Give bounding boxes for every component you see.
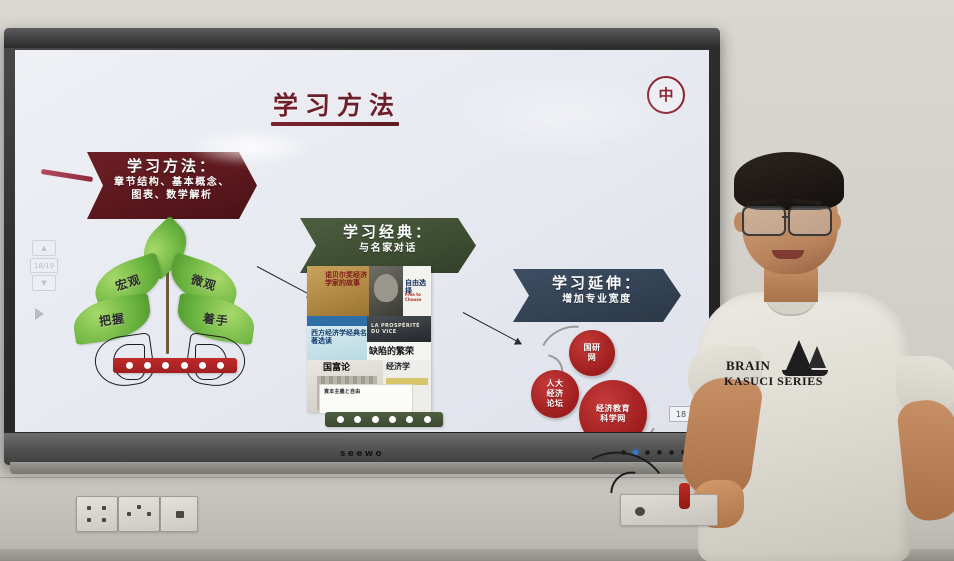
book-portrait — [369, 266, 403, 316]
presenter-mouth — [772, 250, 804, 259]
slide-prev-button[interactable]: ▲ — [32, 240, 56, 256]
dot — [144, 362, 151, 369]
screen-glare-secondary — [445, 70, 685, 160]
leaf-start-label: 着手 — [202, 309, 230, 329]
smartboard-display[interactable]: 学习方法 中 ▲ 18/19 ▼ 学习方法： 章节结构、基本概念、 图表、数学解… — [4, 28, 720, 465]
dot — [406, 416, 413, 423]
dot-bar-left — [113, 358, 237, 373]
book-nobel-title: 诺贝尔奖经济学家的故事 — [325, 272, 369, 288]
dot — [126, 362, 133, 369]
gear-renda-label: 人大经济论坛 — [544, 379, 567, 408]
leaf-macro-label: 宏观 — [113, 270, 143, 294]
dot — [199, 362, 206, 369]
glasses-lens-right — [788, 206, 832, 236]
power-switch-red[interactable] — [679, 483, 690, 509]
wall-socket-2[interactable] — [118, 496, 160, 532]
title-underline — [271, 122, 399, 126]
dot — [162, 362, 169, 369]
portrait-shape — [374, 274, 398, 302]
hw-button-3[interactable] — [645, 450, 650, 455]
chevron-tail-decoration — [41, 169, 93, 182]
block-extend-subtitle: 增加专业宽度 — [513, 293, 681, 306]
dot — [217, 362, 224, 369]
block-method-line2: 图表、数学解析 — [87, 189, 257, 202]
gear-guoyan-label: 国研网 — [581, 343, 604, 363]
device-brand-label: seewo — [340, 449, 384, 459]
leaf-grasp-label: 把握 — [98, 309, 126, 329]
block-classic[interactable]: 学习经典： 与名家对话 — [300, 218, 476, 273]
classroom-scene: 学习方法 中 ▲ 18/19 ▼ 学习方法： 章节结构、基本概念、 图表、数学解… — [0, 0, 954, 561]
book-nobel: 诺贝尔奖经济学家的故事 — [307, 266, 369, 316]
sailboat-sail-second — [808, 346, 826, 368]
gear-jingji-label: 经济教育科学网 — [593, 404, 633, 424]
slide-next-button[interactable]: ▼ — [32, 275, 56, 291]
wall-socket-1[interactable] — [76, 496, 118, 532]
presenter: BRAIN KASUCI SERIES — [690, 150, 954, 561]
glasses-lens-left — [742, 206, 786, 236]
bezel-top — [4, 28, 720, 48]
dot — [372, 416, 379, 423]
glasses-bridge — [782, 216, 790, 218]
shirt-text-line2: KASUCI SERIES — [724, 374, 823, 389]
book-west-band — [307, 316, 367, 326]
book-western-economics: 西方经济学经典名著选读 — [307, 316, 367, 360]
leaf-micro-label: 微观 — [189, 270, 219, 294]
block-classic-heading: 学习经典： — [300, 223, 476, 242]
wall-socket-3[interactable] — [160, 496, 198, 532]
presentation-slide[interactable]: 学习方法 中 ▲ 18/19 ▼ 学习方法： 章节结构、基本概念、 图表、数学解… — [15, 50, 709, 432]
logo-glyph: 中 — [658, 88, 673, 103]
slide-title: 学习方法 — [273, 86, 401, 122]
slide-counter: 18/19 — [30, 258, 58, 273]
gear-guoyan: 国研网 — [569, 330, 615, 376]
block-extend[interactable]: 学习延伸： 增加专业宽度 — [513, 269, 681, 322]
dot — [354, 416, 361, 423]
block-extend-heading: 学习延伸： — [513, 274, 681, 293]
block-method[interactable]: 学习方法： 章节结构、基本概念、 图表、数学解析 — [87, 152, 257, 219]
book-wealth-title: 国富论 — [321, 363, 352, 373]
book-defect-title: 缺陷的繁荣 — [369, 347, 414, 357]
gear-diagram: 国研网 人大经济论坛 经济教育科学网 — [521, 328, 671, 432]
hw-button-5[interactable] — [669, 450, 674, 455]
dot — [424, 416, 431, 423]
dot — [389, 416, 396, 423]
block-method-heading: 学习方法： — [87, 157, 257, 176]
book-collage: 诺贝尔奖经济学家的故事 自由选择 Free to Choose 西方经济学经典名… — [307, 266, 431, 412]
block-classic-subtitle: 与名家对话 — [300, 242, 476, 255]
shirt-text-line1: BRAIN — [726, 358, 770, 374]
book-economics-title: 经济学 — [386, 363, 410, 372]
dot — [181, 362, 188, 369]
book-japanese: 資本主義と自由 — [319, 384, 413, 414]
book-west-title: 西方经济学经典名著选读 — [311, 330, 367, 346]
book-free-subtitle: Free to Choose — [405, 292, 431, 302]
shirt-graphic: BRAIN KASUCI SERIES — [724, 338, 840, 398]
block-method-line1: 章节结构、基本概念、 — [87, 176, 257, 189]
book-prosperite-title: LA PROSPÉRITÉ DU VICE — [371, 324, 431, 335]
book-prosperite: LA PROSPÉRITÉ DU VICE — [367, 316, 431, 342]
book-japanese-title: 資本主義と自由 — [324, 390, 360, 396]
play-icon[interactable] — [35, 308, 44, 320]
gear-renda: 人大经济论坛 — [531, 370, 579, 418]
arrow-classic-to-extend — [463, 312, 522, 344]
slide-nav-widget[interactable]: ▲ 18/19 ▼ — [31, 240, 57, 291]
dot-bar-middle — [325, 412, 443, 427]
dot — [337, 416, 344, 423]
university-logo-icon: 中 — [647, 76, 685, 114]
hw-button-4[interactable] — [657, 450, 662, 455]
